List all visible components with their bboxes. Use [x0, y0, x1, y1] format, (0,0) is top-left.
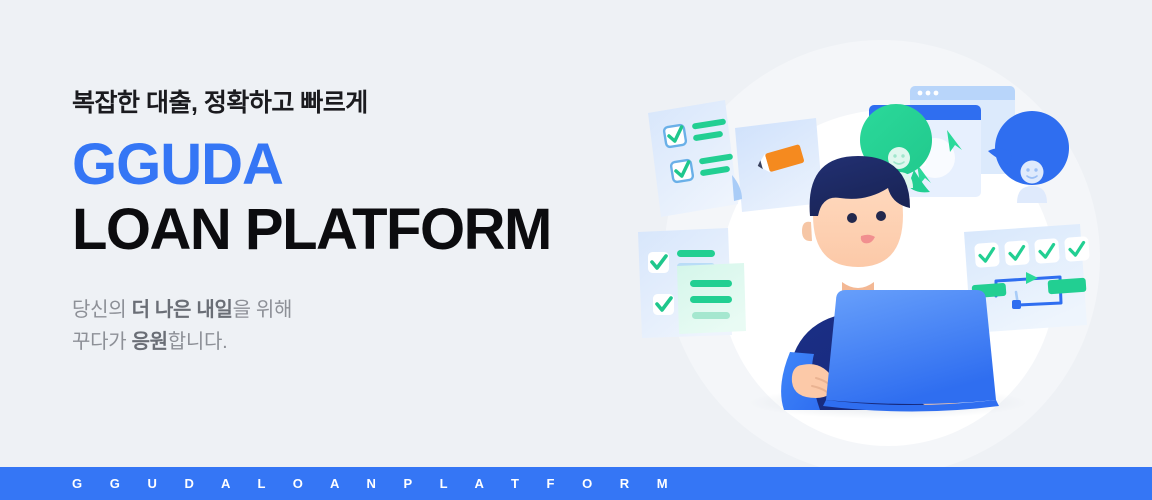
tagline-1-suffix: 을 위해 — [233, 299, 293, 321]
checklist-card-top-left — [648, 100, 738, 217]
bottom-marquee-strip: G G U D A L O A N P L A T F O R M — [0, 467, 1152, 500]
tagline: 당신의 더 나은 내일을 위해 꾸다가 응원합니다. — [72, 294, 632, 359]
green-note-card — [677, 263, 746, 334]
eyebrow-text: 복잡한 대출, 정확하고 빠르게 — [72, 88, 632, 119]
tagline-line-1: 당신의 더 나은 내일을 위해 — [72, 294, 632, 326]
person-eye-left — [847, 213, 857, 223]
tagline-2-bold: 응원 — [132, 331, 168, 353]
person-eye-right — [876, 211, 886, 221]
tagline-1-prefix: 당신의 — [72, 299, 132, 321]
tagline-1-bold: 더 나은 내일 — [132, 299, 233, 321]
tagline-2-suffix: 합니다. — [168, 331, 228, 353]
product-title: LOAN PLATFORM — [72, 200, 632, 259]
tagline-line-2: 꾸다가 응원합니다. — [72, 326, 632, 358]
pencil-note-card — [732, 118, 823, 212]
hero-illustration — [620, 0, 1152, 467]
hero-banner: 복잡한 대출, 정확하고 빠르게 GGUDA LOAN PLATFORM 당신의… — [0, 0, 1152, 500]
laptop — [823, 290, 999, 412]
tagline-2-prefix: 꾸다가 — [72, 331, 132, 353]
marquee-text: G G U D A L O A N P L A T F O R M — [72, 476, 680, 491]
hero-copy-block: 복잡한 대출, 정확하고 빠르게 GGUDA LOAN PLATFORM 당신의… — [72, 88, 632, 358]
brand-title: GGUDA — [72, 135, 632, 194]
